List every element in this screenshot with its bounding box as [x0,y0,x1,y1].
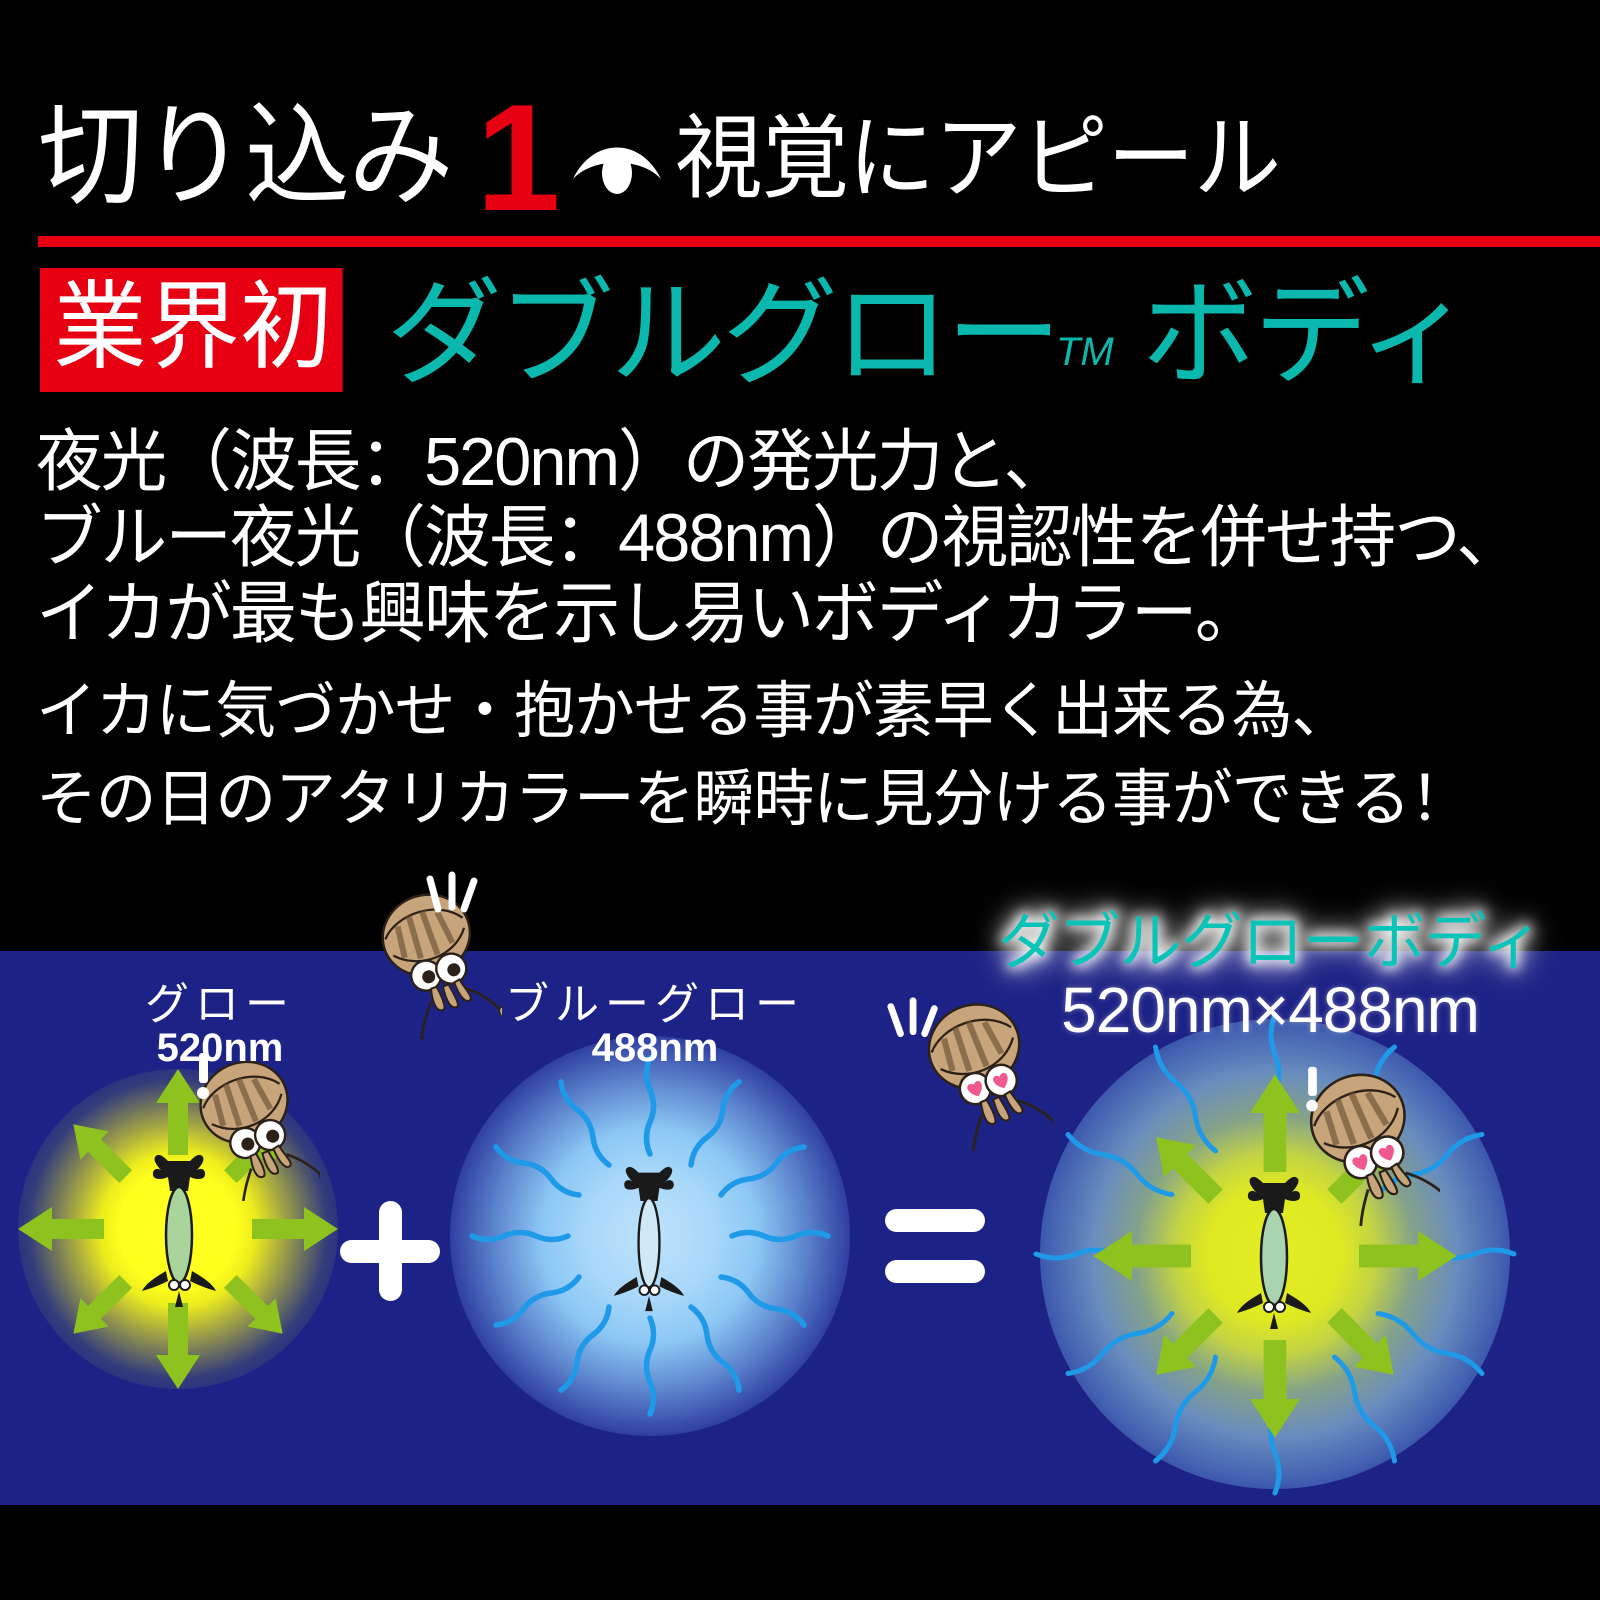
combo-label: ダブルグローボディ 520nm×488nm [960,912,1580,1042]
glow-label-nm: 520nm [80,1028,360,1069]
blue-glow-label-nm: 488nm [490,1028,820,1069]
header-row: 切り込み 1 視覚にアピール [38,88,1312,213]
surprise-lines-blue [420,869,490,929]
combo-label-jp: ダブルグローボディ [960,912,1580,974]
surprise-lines-combo-left [880,995,950,1053]
blue-glow-label: ブルーグロー 488nm [490,983,820,1069]
blue-glow-label-jp: ブルーグロー [490,983,820,1028]
paragraph1-line3: イカが最も興味を示し易いボディカラー。 [36,576,1521,652]
paragraph2-line2: その日のアタリカラーを瞬時に見分ける事ができる！ [36,756,1470,844]
status-badge: 業界初 [40,268,343,392]
exclaim-mark-combo-right [1292,1065,1332,1123]
operator-equals [885,1209,985,1283]
subtitle-row: 業界初 ダブルグロー TM ボディ [40,268,1470,392]
combo-label-nm: 520nm×488nm [960,978,1580,1042]
eye-icon [567,121,667,199]
glow-label-jp: グロー [80,983,360,1028]
product-suffix: ボディ [1142,276,1470,392]
glow-label: グロー 520nm [80,983,360,1069]
description-paragraph-1: 夜光（波長：520nm）の発光力と、 ブルー夜光（波長：488nm）の視認性を併… [36,424,1521,652]
description-paragraph-2: イカに気づかせ・抱かせる事が素早く出来る為、 その日のアタリカラーを瞬時に見分け… [36,668,1470,844]
paragraph1-line2: ブルー夜光（波長：488nm）の視認性を併せ持つ、 [36,500,1521,576]
red-divider [38,236,1600,247]
header-subtitle: 視覚にアピール [675,113,1280,205]
product-name: ダブルグロー [386,276,1058,392]
operator-plus [340,1201,440,1301]
section-number: 1 [476,96,561,221]
page-title: 切り込み [38,101,452,213]
trademark-mark: TM [1056,330,1114,375]
paragraph2-line1: イカに気づかせ・抱かせる事が素早く出来る為、 [36,668,1470,756]
lure-egi-blue [612,1163,686,1315]
paragraph1-line1: 夜光（波長：520nm）の発光力と、 [36,424,1521,500]
